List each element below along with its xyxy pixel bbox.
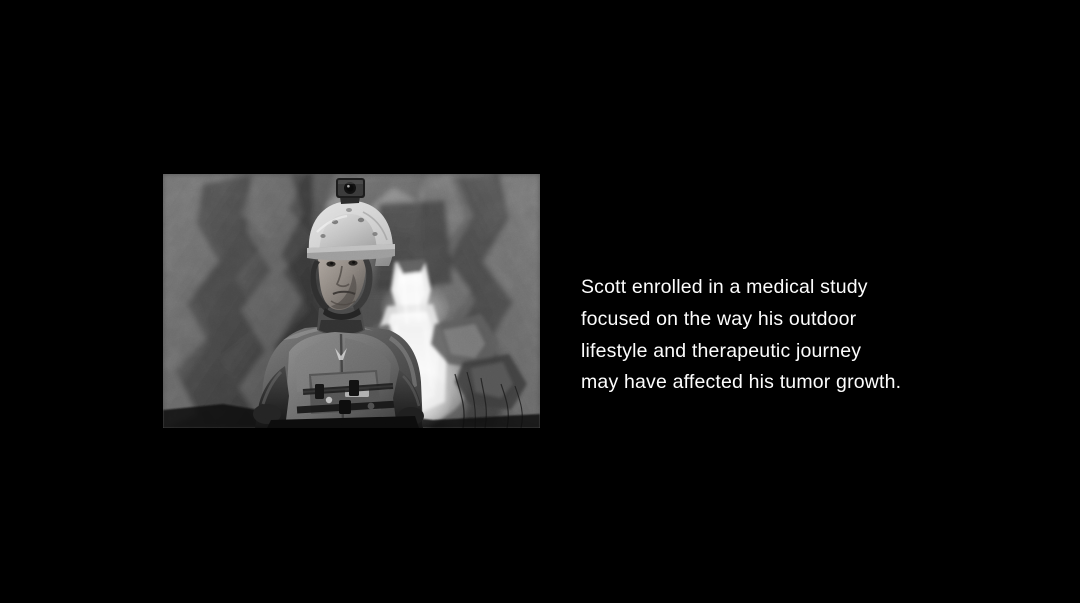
caption-text-block: Scott enrolled in a medical study focuse… [581, 272, 961, 399]
caption-line-1: Scott enrolled in a medical study [581, 272, 961, 304]
slide-canvas: Scott enrolled in a medical study focuse… [0, 0, 1080, 603]
caption-line-4: may have affected his tumor growth. [581, 367, 961, 399]
caption-line-2: focused on the way his outdoor [581, 304, 961, 336]
caption-line-3: lifestyle and therapeutic journey [581, 336, 961, 368]
photo-artwork [163, 174, 540, 428]
kayaker-waterfall-photo [163, 174, 540, 428]
